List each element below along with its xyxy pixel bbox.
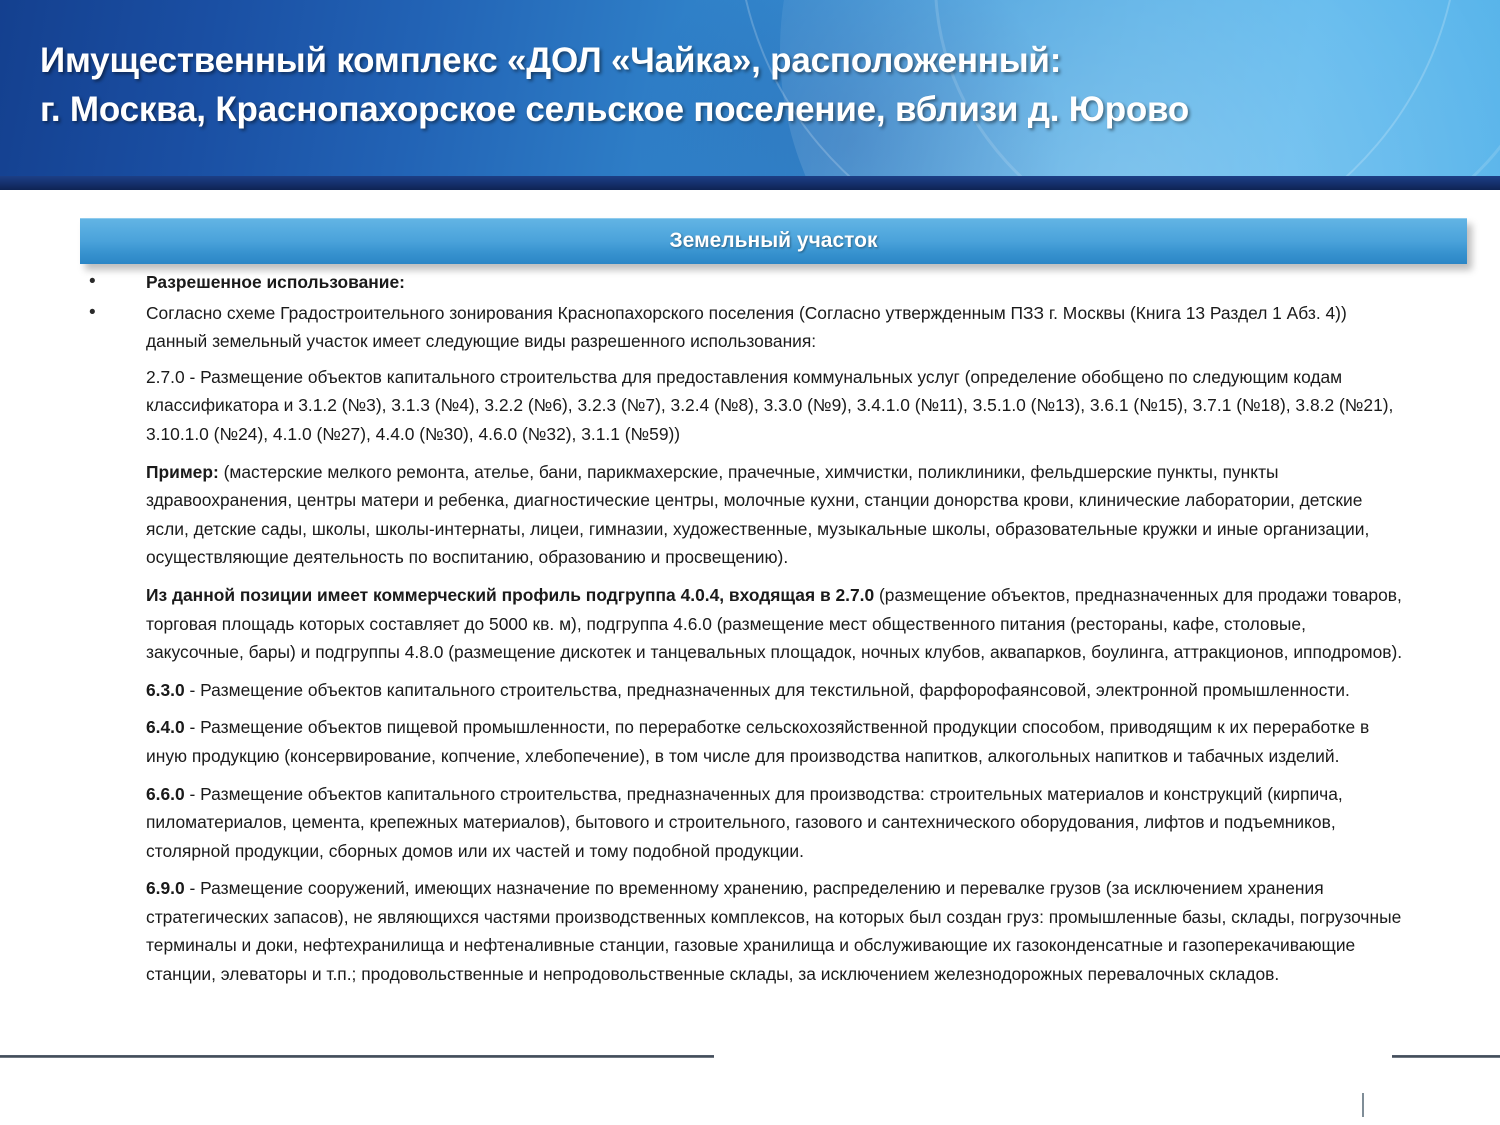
paragraph-4-0-4: Из данной позиции имеет коммерческий про… [146, 581, 1405, 667]
footer-tick-mark [1362, 1093, 1364, 1117]
page-title-line-1: Имущественный комплекс «ДОЛ «Чайка», рас… [40, 41, 1061, 80]
list-item: • Согласно схеме Градостроительного зони… [0, 299, 1500, 356]
page-title-line-2: г. Москва, Краснопахорское сельское посе… [40, 85, 1470, 134]
list-item-label-bold: Разрешенное использование: [146, 272, 405, 292]
footer-rule-left [0, 1055, 714, 1058]
paragraph-4-0-4-lead: Из данной позиции имеет коммерческий про… [146, 585, 874, 605]
paragraph-6-3-0-lead: 6.3.0 [146, 680, 185, 700]
bullet-icon: • [89, 299, 96, 327]
paragraph-6-3-0-text: - Размещение объектов капитального строи… [185, 680, 1350, 700]
paragraph-6-4-0-lead: 6.4.0 [146, 717, 185, 737]
paragraph-6-3-0: 6.3.0 - Размещение объектов капитального… [146, 676, 1405, 705]
list-item-label: Согласно схеме Градостроительного зониро… [146, 299, 1408, 356]
paragraph-6-9-0-text: - Размещение сооружений, имеющих назначе… [146, 878, 1401, 984]
paragraph-6-6-0-lead: 6.6.0 [146, 784, 185, 804]
section-header: Земельный участок [80, 218, 1467, 264]
paragraph-primer: Пример: (мастерские мелкого ремонта, ате… [146, 458, 1405, 572]
paragraph-6-4-0: 6.4.0 - Размещение объектов пищевой пром… [146, 713, 1405, 770]
header-bottom-band [0, 176, 1500, 190]
list-item-label: Разрешенное использование: [146, 268, 1408, 297]
paragraph-primer-lead: Пример: [146, 462, 219, 482]
paragraph-2-7-0: 2.7.0 - Размещение объектов капитального… [146, 363, 1405, 449]
content-area: • Разрешенное использование: • Согласно … [0, 268, 1500, 989]
paragraph-6-6-0-text: - Размещение объектов капитального строи… [146, 784, 1343, 861]
header-banner: Имущественный комплекс «ДОЛ «Чайка», рас… [0, 0, 1500, 190]
paragraph-block: 2.7.0 - Размещение объектов капитального… [0, 363, 1500, 989]
footer-rule-right [1392, 1055, 1500, 1058]
bullet-icon: • [89, 268, 96, 296]
list-item: • Разрешенное использование: [0, 268, 1500, 297]
paragraph-6-4-0-text: - Размещение объектов пищевой промышленн… [146, 717, 1369, 766]
paragraph-2-7-0-text: 2.7.0 - Размещение объектов капитального… [146, 367, 1393, 444]
paragraph-6-6-0: 6.6.0 - Размещение объектов капитального… [146, 780, 1405, 866]
section-header-title: Земельный участок [80, 218, 1467, 264]
slide-root: Имущественный комплекс «ДОЛ «Чайка», рас… [0, 0, 1500, 1125]
page-title: Имущественный комплекс «ДОЛ «Чайка», рас… [40, 36, 1470, 134]
paragraph-primer-text: (мастерские мелкого ремонта, ателье, бан… [146, 462, 1369, 568]
paragraph-6-9-0: 6.9.0 - Размещение сооружений, имеющих н… [146, 874, 1405, 988]
paragraph-6-9-0-lead: 6.9.0 [146, 878, 185, 898]
